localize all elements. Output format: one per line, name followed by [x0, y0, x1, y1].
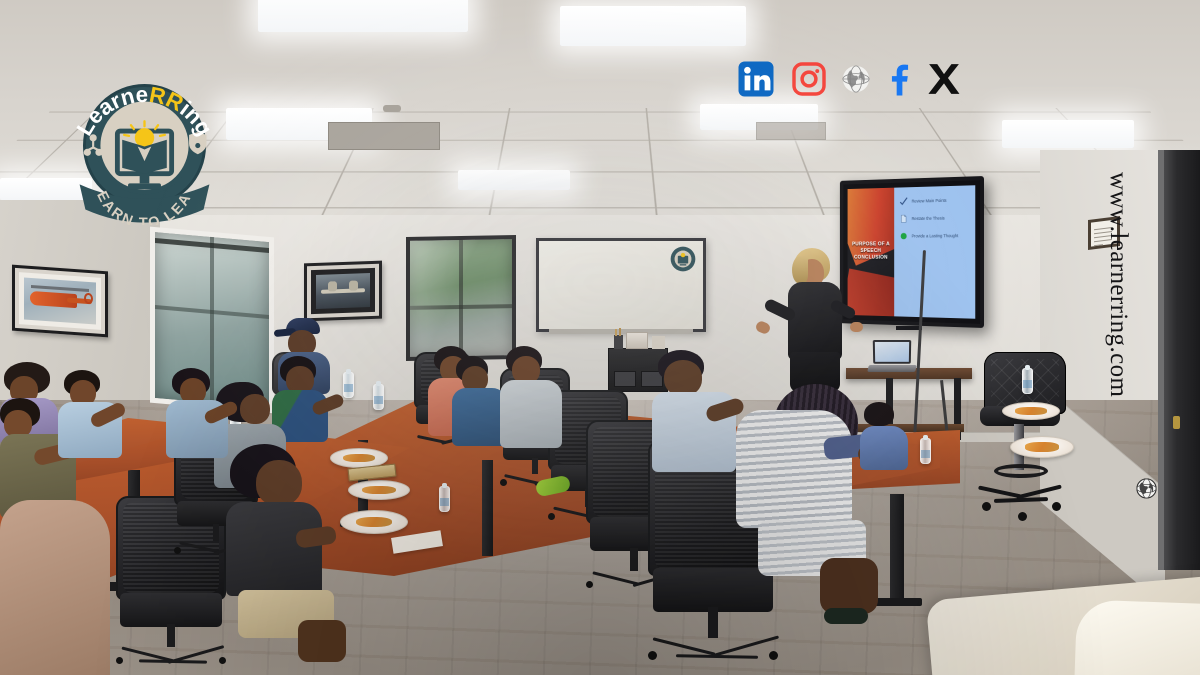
- whiteboard[interactable]: [536, 238, 706, 332]
- slide-bullet-panel: Review Main Points Restate the Thesis Pr…: [894, 185, 975, 318]
- shoe: [824, 608, 868, 624]
- ceiling-light: [258, 0, 468, 32]
- ceiling-light: [1002, 120, 1134, 148]
- chair-base: [656, 636, 770, 660]
- attendee-student: [58, 370, 136, 460]
- logo-on-whiteboard: [670, 246, 696, 272]
- classroom-photo: PURPOSE OF A SPEECH CONCLUSION Review Ma…: [0, 0, 1200, 675]
- laptop-screen: [873, 340, 911, 364]
- hair: [864, 402, 894, 426]
- slide-bullet-text: Provide a Lasting Thought: [912, 233, 959, 238]
- tissue-box: [626, 332, 648, 349]
- wall-website-text: www.learnerring.com: [1104, 172, 1132, 472]
- caster: [1052, 502, 1061, 511]
- helicopter-photo: [24, 277, 96, 324]
- chair-cylinder: [167, 624, 176, 648]
- learnerring-logo: LEARN TO LEAD LearneRRing: [62, 70, 227, 225]
- attendee-student: [860, 402, 912, 470]
- caster: [769, 651, 778, 660]
- cabinet-top-items: [612, 332, 666, 350]
- head: [240, 394, 270, 424]
- attendee-student: [652, 350, 744, 472]
- chair-cylinder: [532, 458, 538, 475]
- checkmark-icon: [900, 197, 908, 206]
- door-knob[interactable]: [1173, 416, 1180, 429]
- caster: [1018, 512, 1027, 521]
- slide-left-panel: PURPOSE OF A SPEECH CONCLUSION: [848, 188, 895, 317]
- torso: [500, 380, 562, 448]
- globe-icon: [1136, 478, 1157, 499]
- caster: [648, 651, 657, 660]
- facebook-icon[interactable]: [885, 61, 913, 97]
- attendee-student: [166, 368, 238, 460]
- torso: [226, 502, 322, 596]
- caster: [500, 479, 507, 486]
- paper-plate: [1002, 402, 1060, 420]
- document-icon: [900, 214, 908, 223]
- laptop-icon[interactable]: [868, 340, 916, 372]
- torso: [860, 426, 908, 470]
- slide-bullet-text: Review Main Points: [912, 198, 947, 204]
- head: [256, 460, 302, 506]
- torso: [736, 410, 852, 528]
- ceiling-light: [560, 6, 746, 46]
- presentation-slide: PURPOSE OF A SPEECH CONCLUSION Review Ma…: [848, 185, 976, 318]
- tissue-box: [652, 336, 665, 349]
- framed-photo-helicopter: [12, 265, 108, 338]
- pencil-cup: [615, 329, 617, 336]
- chair-seat: [120, 593, 221, 627]
- leg: [298, 620, 346, 662]
- laptop-keyboard: [867, 365, 917, 372]
- ceiling-vent: [328, 122, 440, 150]
- ceiling-vent: [756, 122, 826, 140]
- water-bottle: [439, 486, 450, 512]
- attendee-student: [0, 500, 120, 675]
- water-bottle: [373, 384, 384, 410]
- caster: [982, 502, 991, 511]
- attendee-student: [224, 444, 354, 664]
- paper-plate: [348, 480, 410, 500]
- leg: [820, 558, 878, 614]
- instagram-icon[interactable]: [791, 61, 827, 97]
- globe-icon[interactable]: [841, 64, 871, 94]
- slide-bullet: Provide a Lasting Thought: [900, 231, 972, 240]
- chair-cylinder: [213, 524, 220, 542]
- presenter: [778, 248, 850, 390]
- table-leg: [890, 494, 904, 602]
- chair-footring: [994, 464, 1048, 478]
- paper-plate: [1010, 436, 1074, 458]
- slide-title: PURPOSE OF A SPEECH CONCLUSION: [848, 242, 895, 262]
- water-bottle: [1022, 368, 1033, 394]
- water-bottle: [920, 438, 931, 464]
- caster: [586, 581, 593, 588]
- pencil-cup: [619, 328, 621, 336]
- green-dot-icon: [900, 232, 908, 241]
- ceiling-light: [458, 170, 570, 190]
- table-leg: [482, 460, 493, 556]
- chair-cylinder: [630, 548, 638, 572]
- wall-mounted-tv[interactable]: PURPOSE OF A SPEECH CONCLUSION Review Ma…: [840, 176, 984, 328]
- entry-door[interactable]: [1158, 150, 1200, 570]
- water-bottle: [343, 372, 354, 398]
- chair-base: [123, 646, 220, 664]
- head: [664, 360, 702, 396]
- slide-bullet: Review Main Points: [900, 195, 972, 205]
- attendee-student: [500, 346, 570, 450]
- smoke-detector-icon: [383, 105, 401, 112]
- framed-photo-aircraft: [304, 261, 382, 322]
- social-icon-strip: [735, 58, 961, 100]
- pencil-cup: [614, 335, 623, 349]
- exterior-window: [406, 235, 516, 361]
- slide-bullet-text: Restate the Thesis: [912, 216, 945, 221]
- aircraft-photo: [316, 273, 370, 309]
- caster: [174, 547, 181, 554]
- linkedin-icon[interactable]: [735, 58, 777, 100]
- chair-cylinder: [708, 607, 718, 638]
- caster: [548, 513, 555, 520]
- torso: [0, 500, 110, 675]
- hand: [850, 322, 863, 332]
- torso: [788, 282, 842, 360]
- x-twitter-icon[interactable]: [927, 62, 961, 96]
- hair: [792, 256, 808, 284]
- slide-bullet: Restate the Thesis: [900, 213, 972, 223]
